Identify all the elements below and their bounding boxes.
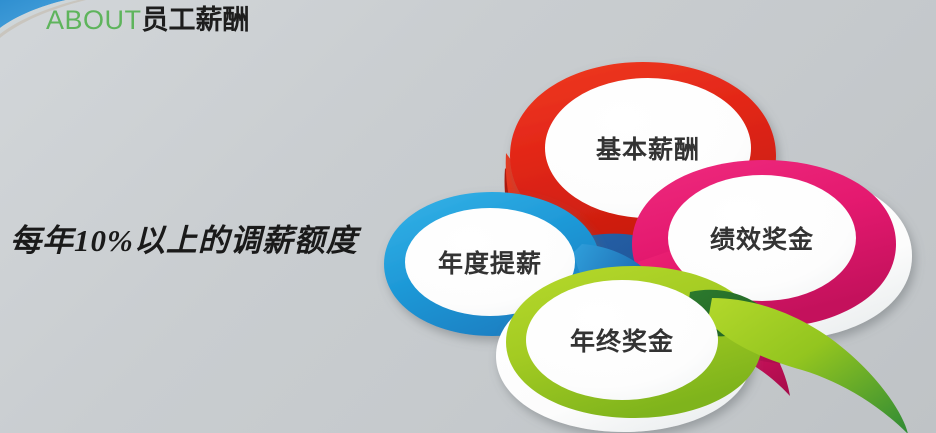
slide-canvas: ABOUT员工薪酬 每年10%以上的调薪额度 <box>0 0 936 433</box>
petal-yearend-label: 年终奖金 <box>570 327 674 356</box>
petal-diagram: 基本薪酬 年度提薪 <box>360 48 936 433</box>
petal-base-label: 基本薪酬 <box>596 135 700 164</box>
left-caption-text: 每年10%以上的调薪额度 <box>10 215 358 260</box>
page-title: ABOUT员工薪酬 <box>46 7 250 34</box>
petal-bonus-label: 绩效奖金 <box>710 225 814 254</box>
heading-about-label: ABOUT <box>46 5 142 35</box>
petal-raise-label: 年度提薪 <box>438 249 542 278</box>
heading-title-cn: 员工薪酬 <box>142 5 250 36</box>
